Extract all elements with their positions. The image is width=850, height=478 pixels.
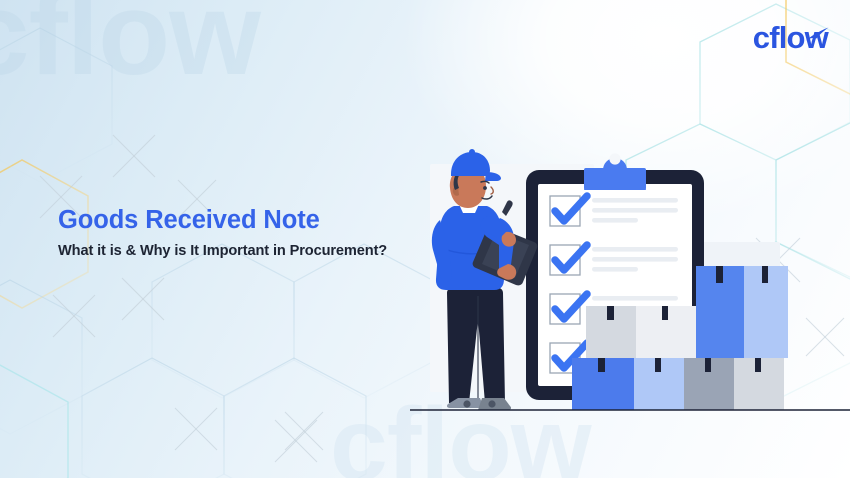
text-line: [592, 247, 678, 252]
box-tape: [655, 358, 661, 372]
watermark-top: cflow: [0, 0, 260, 102]
sparkle-icon: [285, 412, 323, 450]
banner-root: cflow cflow Goods Received Note What it …: [0, 0, 850, 478]
box-tape: [762, 266, 768, 283]
box-tape: [607, 306, 614, 320]
text-line: [592, 296, 678, 301]
text-line: [592, 218, 638, 223]
sparkle-icon: [53, 295, 95, 337]
box-tape: [705, 358, 711, 372]
text-line: [592, 257, 678, 262]
text-line: [592, 198, 678, 203]
box-tape: [662, 306, 668, 320]
box-tape: [755, 358, 761, 372]
cflow-swoosh-icon: [804, 26, 830, 42]
eye: [483, 186, 487, 190]
box-tape: [716, 266, 723, 283]
box-tape: [598, 358, 605, 372]
cap: [451, 152, 490, 176]
clipboard-clip: [584, 153, 646, 190]
text-line: [592, 208, 678, 213]
hexagon-accent-cyan: [0, 364, 68, 478]
sparkle-icon: [113, 135, 155, 177]
cap-button: [469, 149, 475, 155]
hero-illustration: [396, 128, 850, 428]
sparkle-icon: [122, 278, 164, 320]
sparkle-icon: [275, 420, 317, 462]
cflow-logo[interactable]: cflow: [753, 22, 828, 53]
sparkle-icon: [175, 408, 217, 450]
text-line: [592, 267, 638, 272]
